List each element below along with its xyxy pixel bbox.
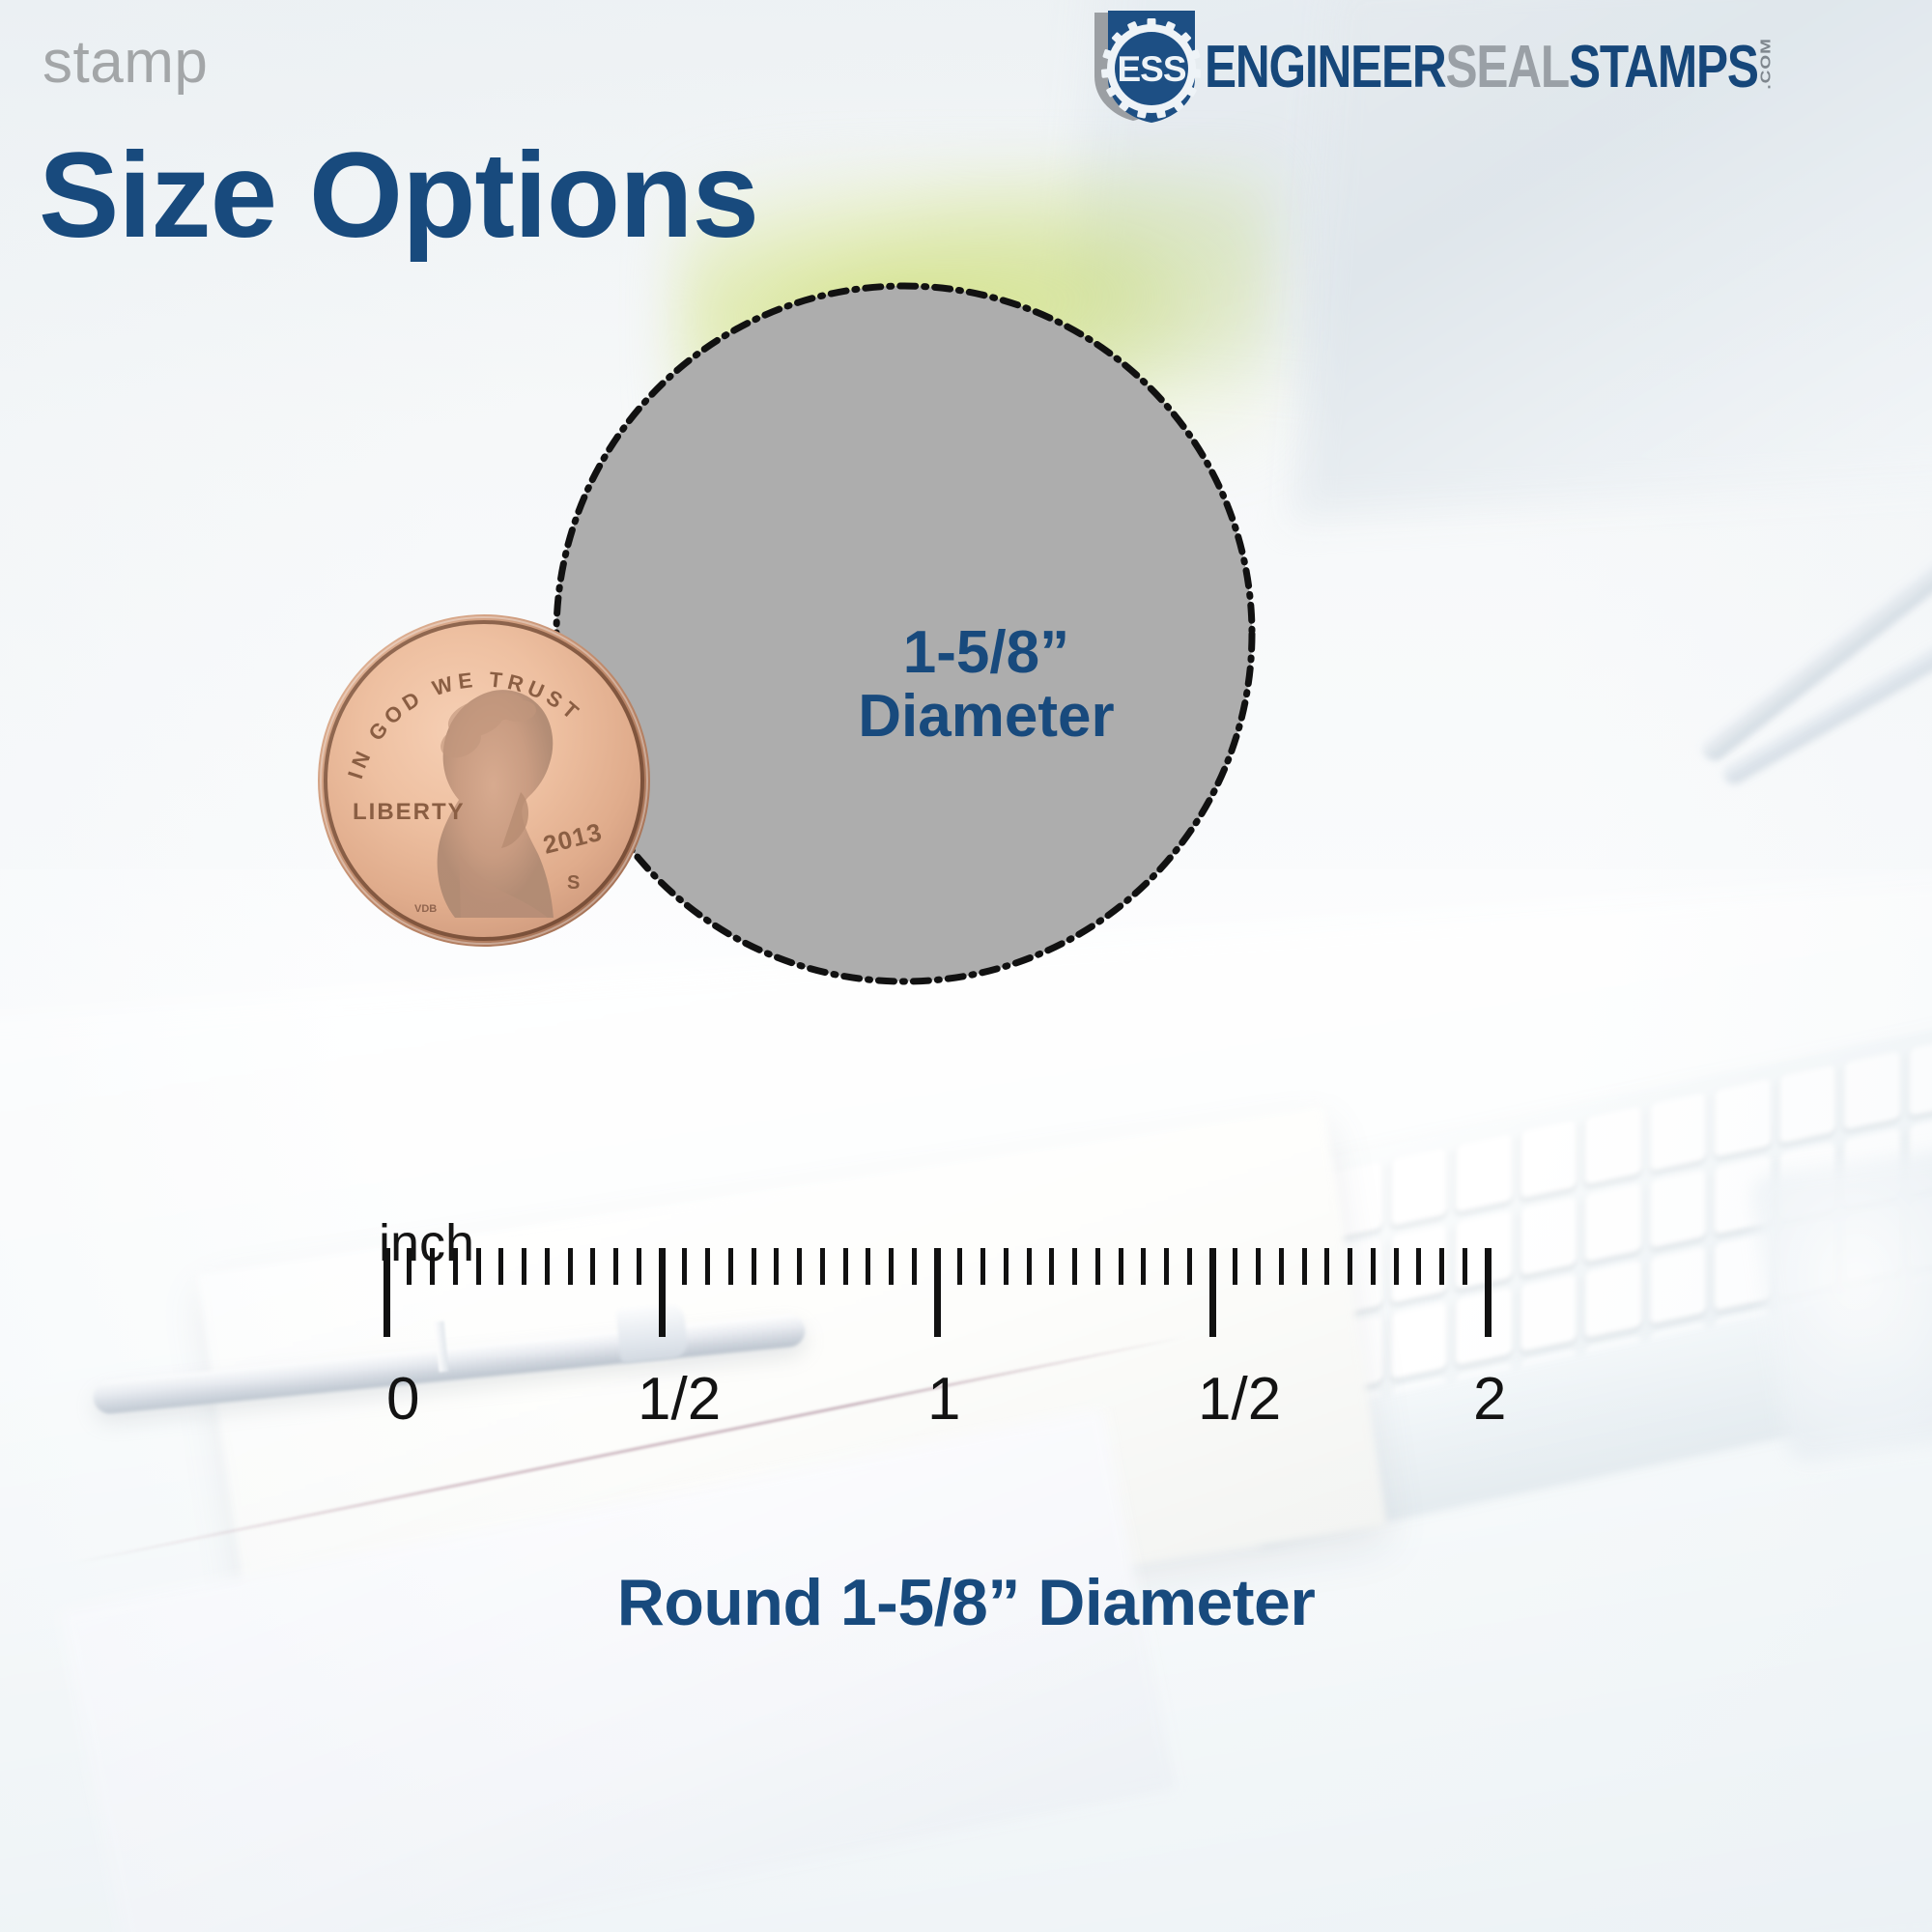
ruler-minor-tick xyxy=(1049,1248,1054,1285)
ruler-minor-tick xyxy=(980,1248,985,1285)
ruler-minor-tick xyxy=(752,1248,756,1285)
svg-text:S: S xyxy=(567,872,580,894)
ruler-minor-tick xyxy=(637,1248,641,1285)
eyebrow-label: stamp xyxy=(43,33,208,93)
ruler-minor-tick xyxy=(705,1248,710,1285)
ruler-minor-tick xyxy=(889,1248,894,1285)
ruler-minor-tick xyxy=(1164,1248,1169,1285)
ruler-minor-tick xyxy=(1324,1248,1329,1285)
ruler-minor-tick xyxy=(682,1248,687,1285)
ruler-unit-label: inch xyxy=(379,1217,474,1269)
ruler-minor-tick xyxy=(820,1248,825,1285)
ruler-label: 0 xyxy=(386,1370,419,1430)
ruler-minor-tick xyxy=(797,1248,802,1285)
ruler-minor-tick xyxy=(1279,1248,1284,1285)
ruler-major-tick xyxy=(1485,1248,1492,1337)
ruler-minor-tick xyxy=(498,1248,503,1285)
size-circle-dimension-word: Diameter xyxy=(858,685,1114,749)
ruler-minor-tick xyxy=(1463,1248,1467,1285)
svg-text:ESS: ESS xyxy=(1117,49,1185,89)
ruler-minor-tick xyxy=(1141,1248,1146,1285)
ruler-label: 2 xyxy=(1473,1370,1506,1430)
ruler-minor-tick xyxy=(476,1248,481,1285)
size-circle-dimension: 1-5/8” xyxy=(858,621,1114,685)
brand-wordmark: ENGINEER SEAL STAMPS .COM xyxy=(1205,38,1773,94)
ruler-minor-tick xyxy=(613,1248,618,1285)
ruler-label: 1 xyxy=(927,1370,960,1430)
ruler-minor-tick xyxy=(1348,1248,1352,1285)
wordmark-engineer: ENGINEER xyxy=(1205,42,1445,93)
ruler-minor-tick xyxy=(522,1248,526,1285)
ruler-minor-tick xyxy=(1072,1248,1077,1285)
stamp-size-circle: 1-5/8” Diameter xyxy=(553,282,1256,985)
ruler-minor-tick xyxy=(957,1248,962,1285)
wordmark-seal: SEAL xyxy=(1445,42,1568,93)
size-circle-label: 1-5/8” Diameter xyxy=(858,621,1114,748)
ruler-major-tick xyxy=(659,1248,666,1337)
ruler-minor-tick xyxy=(1439,1248,1444,1285)
ruler-minor-tick xyxy=(912,1248,917,1285)
penny-reference-coin: IN GOD WE TRUST LIBERTY 2013 S VDB xyxy=(314,611,654,951)
ruler-minor-tick xyxy=(1256,1248,1261,1285)
ruler-minor-tick xyxy=(1187,1248,1192,1285)
ruler-label: 1/2 xyxy=(638,1370,721,1430)
ruler-minor-tick xyxy=(1394,1248,1399,1285)
inch-ruler: inch 01/211/22 xyxy=(0,1198,1932,1517)
ruler-minor-tick xyxy=(728,1248,733,1285)
ruler-major-tick xyxy=(934,1248,941,1337)
ruler-minor-tick xyxy=(1119,1248,1123,1285)
ruler-minor-tick xyxy=(1004,1248,1009,1285)
ruler-major-tick xyxy=(384,1248,390,1337)
ruler-minor-tick xyxy=(590,1248,595,1285)
ruler-label: 1/2 xyxy=(1198,1370,1281,1430)
ruler-minor-tick xyxy=(843,1248,848,1285)
ess-shield-gear-icon: ESS xyxy=(1087,9,1201,123)
page-title: Size Options xyxy=(39,135,758,256)
ruler-minor-tick xyxy=(866,1248,870,1285)
ruler-major-tick xyxy=(1209,1248,1216,1337)
ruler-minor-tick xyxy=(430,1248,435,1285)
svg-text:LIBERTY: LIBERTY xyxy=(353,799,466,825)
ruler-minor-tick xyxy=(1233,1248,1237,1285)
svg-text:VDB: VDB xyxy=(414,903,437,915)
ruler-minor-tick xyxy=(1302,1248,1307,1285)
ruler-minor-tick xyxy=(1371,1248,1376,1285)
wordmark-stamps: STAMPS xyxy=(1569,42,1758,93)
ruler-minor-tick xyxy=(545,1248,550,1285)
ruler-minor-tick xyxy=(453,1248,458,1285)
ruler-minor-tick xyxy=(1027,1248,1032,1285)
ruler-minor-tick xyxy=(407,1248,412,1285)
ruler-minor-tick xyxy=(568,1248,573,1285)
size-caption: Round 1-5/8” Diameter xyxy=(0,1565,1932,1640)
brand-logo[interactable]: ESS ENGINEER SEAL STAMPS .COM xyxy=(1087,8,1915,124)
ruler-minor-tick xyxy=(774,1248,779,1285)
ruler-minor-tick xyxy=(1095,1248,1100,1285)
wordmark-dotcom: .COM xyxy=(1760,38,1773,90)
screenshot-root: stamp Size Options xyxy=(0,0,1932,1932)
ruler-minor-tick xyxy=(1416,1248,1421,1285)
